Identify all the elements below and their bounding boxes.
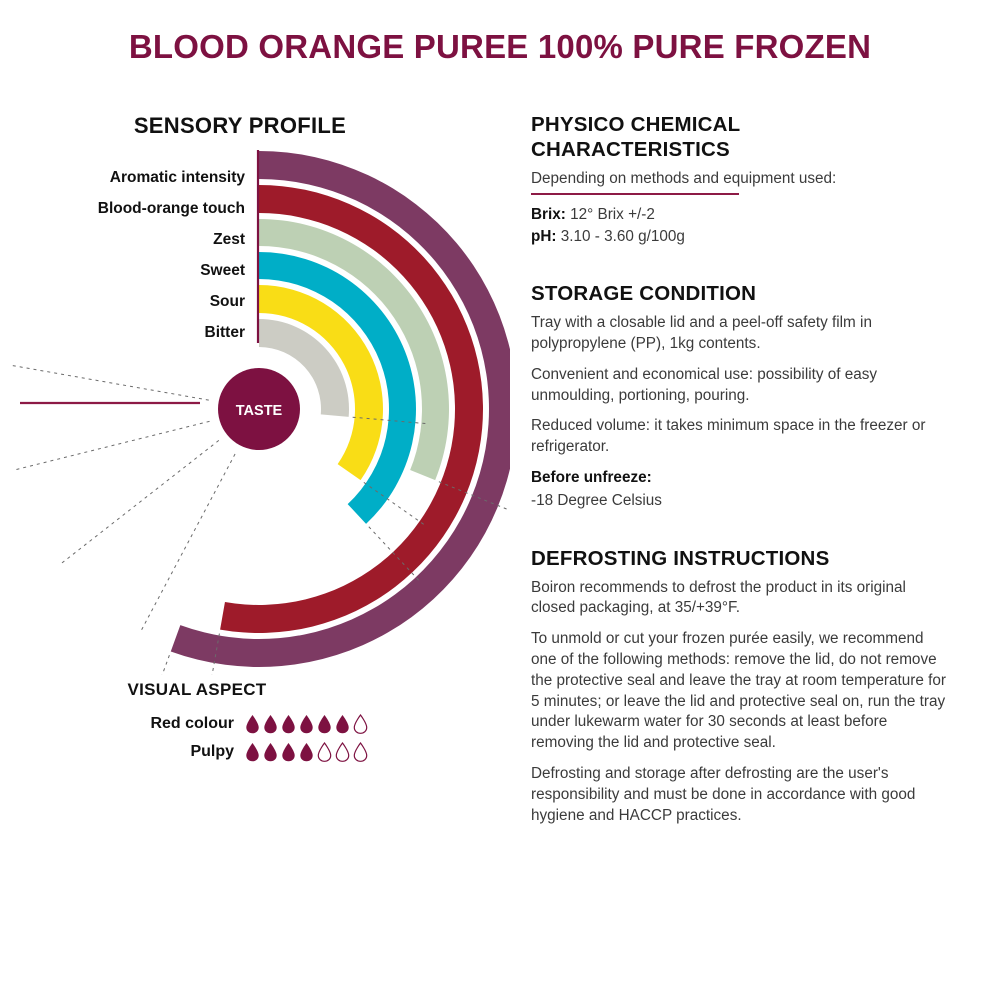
drop-filled-icon [299,742,314,762]
physico-heading-line2: CHARACTERISTICS [531,138,730,161]
physico-heading-line1: PHYSICO CHEMICAL [531,113,740,136]
defrosting-paragraph-3: Defrosting and storage after defrosting … [531,764,951,826]
drop-filled-icon [317,714,332,734]
drop-filled-icon [281,714,296,734]
storage-paragraph-3: Reduced volume: it takes minimum space i… [531,416,951,458]
defrosting-paragraph-1: Boiron recommends to defrost the product… [531,578,951,620]
drop-filled-icon [263,714,278,734]
drop-filled-icon [245,742,260,762]
visual-aspect-heading: VISUAL ASPECT [0,680,440,700]
leader-line [142,454,235,630]
taste-center-label: TASTE [236,403,283,419]
sensory-radial-chart: TASTE [0,105,510,675]
drop-filled-icon [299,714,314,734]
visual-aspect-panel: VISUAL ASPECT Red colour Pulpy [0,680,440,770]
brix-value: 12° Brix +/-2 [570,206,655,223]
physico-heading: PHYSICO CHEMICAL CHARACTERISTICS [531,112,951,162]
pulpy-drop-rating [245,742,368,762]
visual-row-label-pulpy: Pulpy [0,743,245,761]
physico-intro: Depending on methods and equipment used: [531,169,951,190]
visual-aspect-row: Pulpy [0,742,440,762]
visual-row-label-red-colour: Red colour [0,715,245,733]
red-colour-drop-rating [245,714,368,734]
storage-paragraph-1: Tray with a closable lid and a peel-off … [531,313,951,355]
drop-filled-icon [245,714,260,734]
leader-line [13,366,209,401]
leader-line [144,655,169,675]
drop-empty-icon [353,714,368,734]
ph-label: pH: [531,228,557,245]
defrosting-paragraph-2: To unmold or cut your frozen purée easil… [531,629,951,754]
page-title: BLOOD ORANGE PUREE 100% PURE FROZEN [0,28,1000,66]
physico-divider [531,193,739,195]
product-info-panel: PHYSICO CHEMICAL CHARACTERISTICS Dependi… [531,112,951,836]
brix-row: Brix: 12° Brix +/-2 [531,204,951,226]
storage-heading: STORAGE CONDITION [531,281,951,306]
drop-empty-icon [317,742,332,762]
ph-value: 3.10 - 3.60 g/100g [561,228,685,245]
drop-filled-icon [281,742,296,762]
before-unfreeze-label: Before unfreeze: [531,468,951,489]
defrosting-heading: DEFROSTING INSTRUCTIONS [531,546,951,571]
drop-empty-icon [335,742,350,762]
before-unfreeze-value: -18 Degree Celsius [531,491,951,512]
leader-line [16,421,209,469]
brix-label: Brix: [531,206,566,223]
drop-filled-icon [335,714,350,734]
drop-empty-icon [353,742,368,762]
ph-row: pH: 3.10 - 3.60 g/100g [531,226,951,248]
visual-aspect-row: Red colour [0,714,440,734]
drop-filled-icon [263,742,278,762]
leader-line [62,440,219,563]
storage-paragraph-2: Convenient and economical use: possibili… [531,365,951,407]
sensory-profile-panel: SENSORY PROFILE Aromatic intensity Blood… [0,105,510,905]
